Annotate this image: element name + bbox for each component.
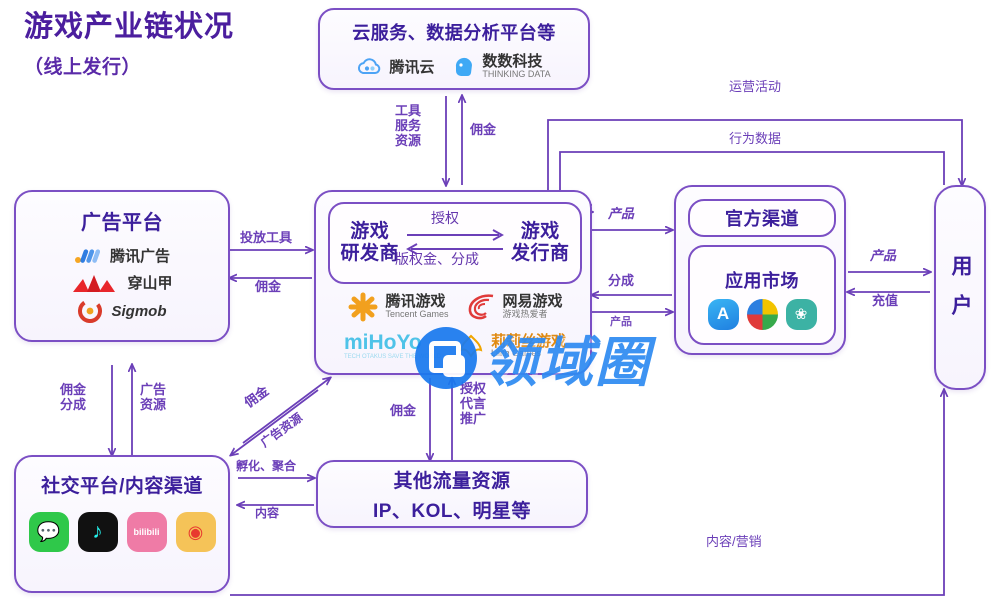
game-logo-row-2: miHoYo TECH OTAKUS SAVE THE WORLD 莉莉丝游戏 …: [326, 332, 584, 360]
tencent-games-text: 腾讯游戏 Tencent Games: [385, 294, 448, 319]
oppo-vivo-store-icon: [747, 299, 778, 330]
tencent-games-sub: Tencent Games: [385, 310, 448, 319]
edge-label-cloud-up: 佣金: [470, 123, 496, 138]
lilith-games-label: 莉莉丝游戏: [491, 334, 566, 350]
users-label: 用 户: [945, 255, 975, 321]
lilith-games-sub: Lilith Games: [491, 349, 566, 358]
edge-label-dev-to-ad: 佣金: [255, 280, 281, 295]
page-subtitle: （线上发行）: [24, 52, 234, 79]
edge-label-product-from-channel: 产品: [610, 316, 632, 329]
node-users[interactable]: 用 户: [934, 185, 986, 390]
node-other-traffic[interactable]: 其他流量资源 IP、KOL、明星等: [316, 460, 588, 528]
edge-label-product-to-channel: 产品: [608, 207, 634, 222]
logo-thinkingdata: 数数科技 THINKING DATA: [452, 54, 550, 79]
other-traffic-line2: IP、KOL、明星等: [373, 496, 531, 523]
edge-label-traffic-up: 授权 代言 推广: [460, 382, 486, 427]
edge-label-incubate: 孵化、聚合: [236, 460, 296, 474]
publisher-label: 游戏 发行商: [511, 221, 570, 265]
social-logo-row: 💬 ♪ bilibili ◉: [16, 512, 228, 552]
ad-logo-tencent-ads: 腾讯广告: [16, 245, 228, 266]
studio-publisher-pill: 游戏 研发商 授权 版权金、分成 游戏 发行商: [328, 202, 582, 284]
sigmob-label: Sigmob: [112, 303, 167, 320]
huawei-appgallery-icon: ❀: [786, 299, 817, 330]
thinkingdata-icon: [452, 56, 476, 78]
edge-label-content: 内容: [255, 507, 279, 521]
thinkingdata-sub: THINKING DATA: [482, 70, 550, 79]
mihoyo-label: miHoYo: [344, 332, 441, 354]
edge-label-traffic-down: 佣金: [390, 404, 416, 419]
edge-label-operation-activity: 运营活动: [729, 80, 781, 95]
cloud-logo-row: 腾讯云 数数科技 THINKING DATA: [320, 54, 588, 79]
edge-label-ad-down: 佣金 分成: [60, 383, 86, 413]
studio-label: 游戏 研发商: [340, 221, 399, 265]
sigmob-icon: [78, 299, 102, 323]
game-logo-row-1: 腾讯游戏 Tencent Games 网易游戏 游戏热爱者: [326, 292, 584, 322]
logo-tencent-cloud: 腾讯云: [357, 56, 434, 77]
douyin-icon: ♪: [78, 512, 118, 552]
ad-platform-title: 广告平台: [16, 206, 228, 235]
weibo-icon: ◉: [176, 512, 216, 552]
ad-logo-sigmob: Sigmob: [16, 299, 228, 323]
bilibili-icon: bilibili: [127, 512, 167, 552]
logo-mihoyo: miHoYo TECH OTAKUS SAVE THE WORLD: [344, 332, 441, 360]
cloud-services-title: 云服务、数据分析平台等: [320, 19, 588, 45]
wechat-icon: 💬: [29, 512, 69, 552]
netease-games-label: 网易游戏: [503, 294, 563, 310]
edge-label-share-from-channel: 分成: [608, 274, 634, 289]
edge-label-product-to-user: 产品: [870, 249, 896, 264]
app-store-logo-row: A ❀: [708, 299, 817, 330]
tencent-cloud-label: 腾讯云: [389, 56, 434, 77]
node-cloud-services[interactable]: 云服务、数据分析平台等 腾讯云 数数科技 THINKING DATA: [318, 8, 590, 90]
node-ad-platform[interactable]: 广告平台 腾讯广告 穿山甲 Sigmob: [14, 190, 230, 342]
other-traffic-line1: 其他流量资源: [393, 466, 510, 493]
lilith-games-text: 莉莉丝游戏 Lilith Games: [491, 334, 566, 359]
mihoyo-sub: TECH OTAKUS SAVE THE WORLD: [344, 354, 441, 360]
edge-label-content-marketing: 内容/营销: [706, 535, 762, 550]
tencent-cloud-icon: [357, 57, 383, 77]
social-platforms-title: 社交平台/内容渠道: [16, 471, 228, 498]
edge-label-commission-diagonal: 佣金: [242, 384, 272, 411]
ad-logo-chuanshanjia: 穿山甲: [16, 272, 228, 293]
chuanshanjia-icon: [71, 273, 117, 293]
diagram-canvas: 游戏产业链状况 （线上发行）: [0, 0, 1000, 605]
edge-label-ad-to-dev: 投放工具: [240, 231, 292, 246]
tencent-games-label: 腾讯游戏: [385, 294, 448, 310]
logo-netease-games: 网易游戏 游戏热爱者: [465, 292, 563, 322]
thinkingdata-text: 数数科技 THINKING DATA: [482, 54, 550, 79]
node-studio-publisher[interactable]: 游戏 研发商 授权 版权金、分成 游戏 发行商: [314, 190, 592, 375]
netease-games-icon: [465, 292, 497, 322]
edge-label-social-up: 广告 资源: [140, 383, 166, 413]
edge-label-royalty: 版权金、分成: [395, 251, 479, 267]
netease-games-sub: 游戏热爱者: [503, 310, 563, 319]
tencent-ads-label: 腾讯广告: [110, 245, 170, 266]
edge-label-behavior-data: 行为数据: [729, 132, 781, 147]
netease-games-text: 网易游戏 游戏热爱者: [503, 294, 563, 319]
logo-tencent-games: 腾讯游戏 Tencent Games: [347, 292, 448, 322]
page-title: 游戏产业链状况: [24, 12, 234, 44]
lilith-games-icon: [457, 333, 485, 359]
tencent-ads-icon: [74, 247, 100, 265]
title-block: 游戏产业链状况 （线上发行）: [24, 12, 234, 79]
node-channels[interactable]: 官方渠道 应用市场 A ❀: [674, 185, 846, 355]
app-market-pill[interactable]: 应用市场 A ❀: [688, 245, 836, 345]
official-channel-label: 官方渠道: [725, 205, 799, 231]
node-social-platforms[interactable]: 社交平台/内容渠道 💬 ♪ bilibili ◉: [14, 455, 230, 593]
official-channel-pill[interactable]: 官方渠道: [688, 199, 836, 237]
app-store-icon: A: [708, 299, 739, 330]
app-market-label: 应用市场: [725, 267, 799, 293]
thinkingdata-label: 数数科技: [482, 54, 550, 70]
edge-label-cloud-down: 工具 服务 资源: [395, 104, 421, 149]
chuanshanjia-label: 穿山甲: [127, 272, 172, 293]
edge-label-ad-resource-diagonal: 广告资源: [259, 411, 306, 450]
logo-lilith-games: 莉莉丝游戏 Lilith Games: [457, 333, 566, 359]
tencent-games-icon: [347, 292, 379, 322]
edge-label-recharge: 充值: [872, 294, 898, 309]
